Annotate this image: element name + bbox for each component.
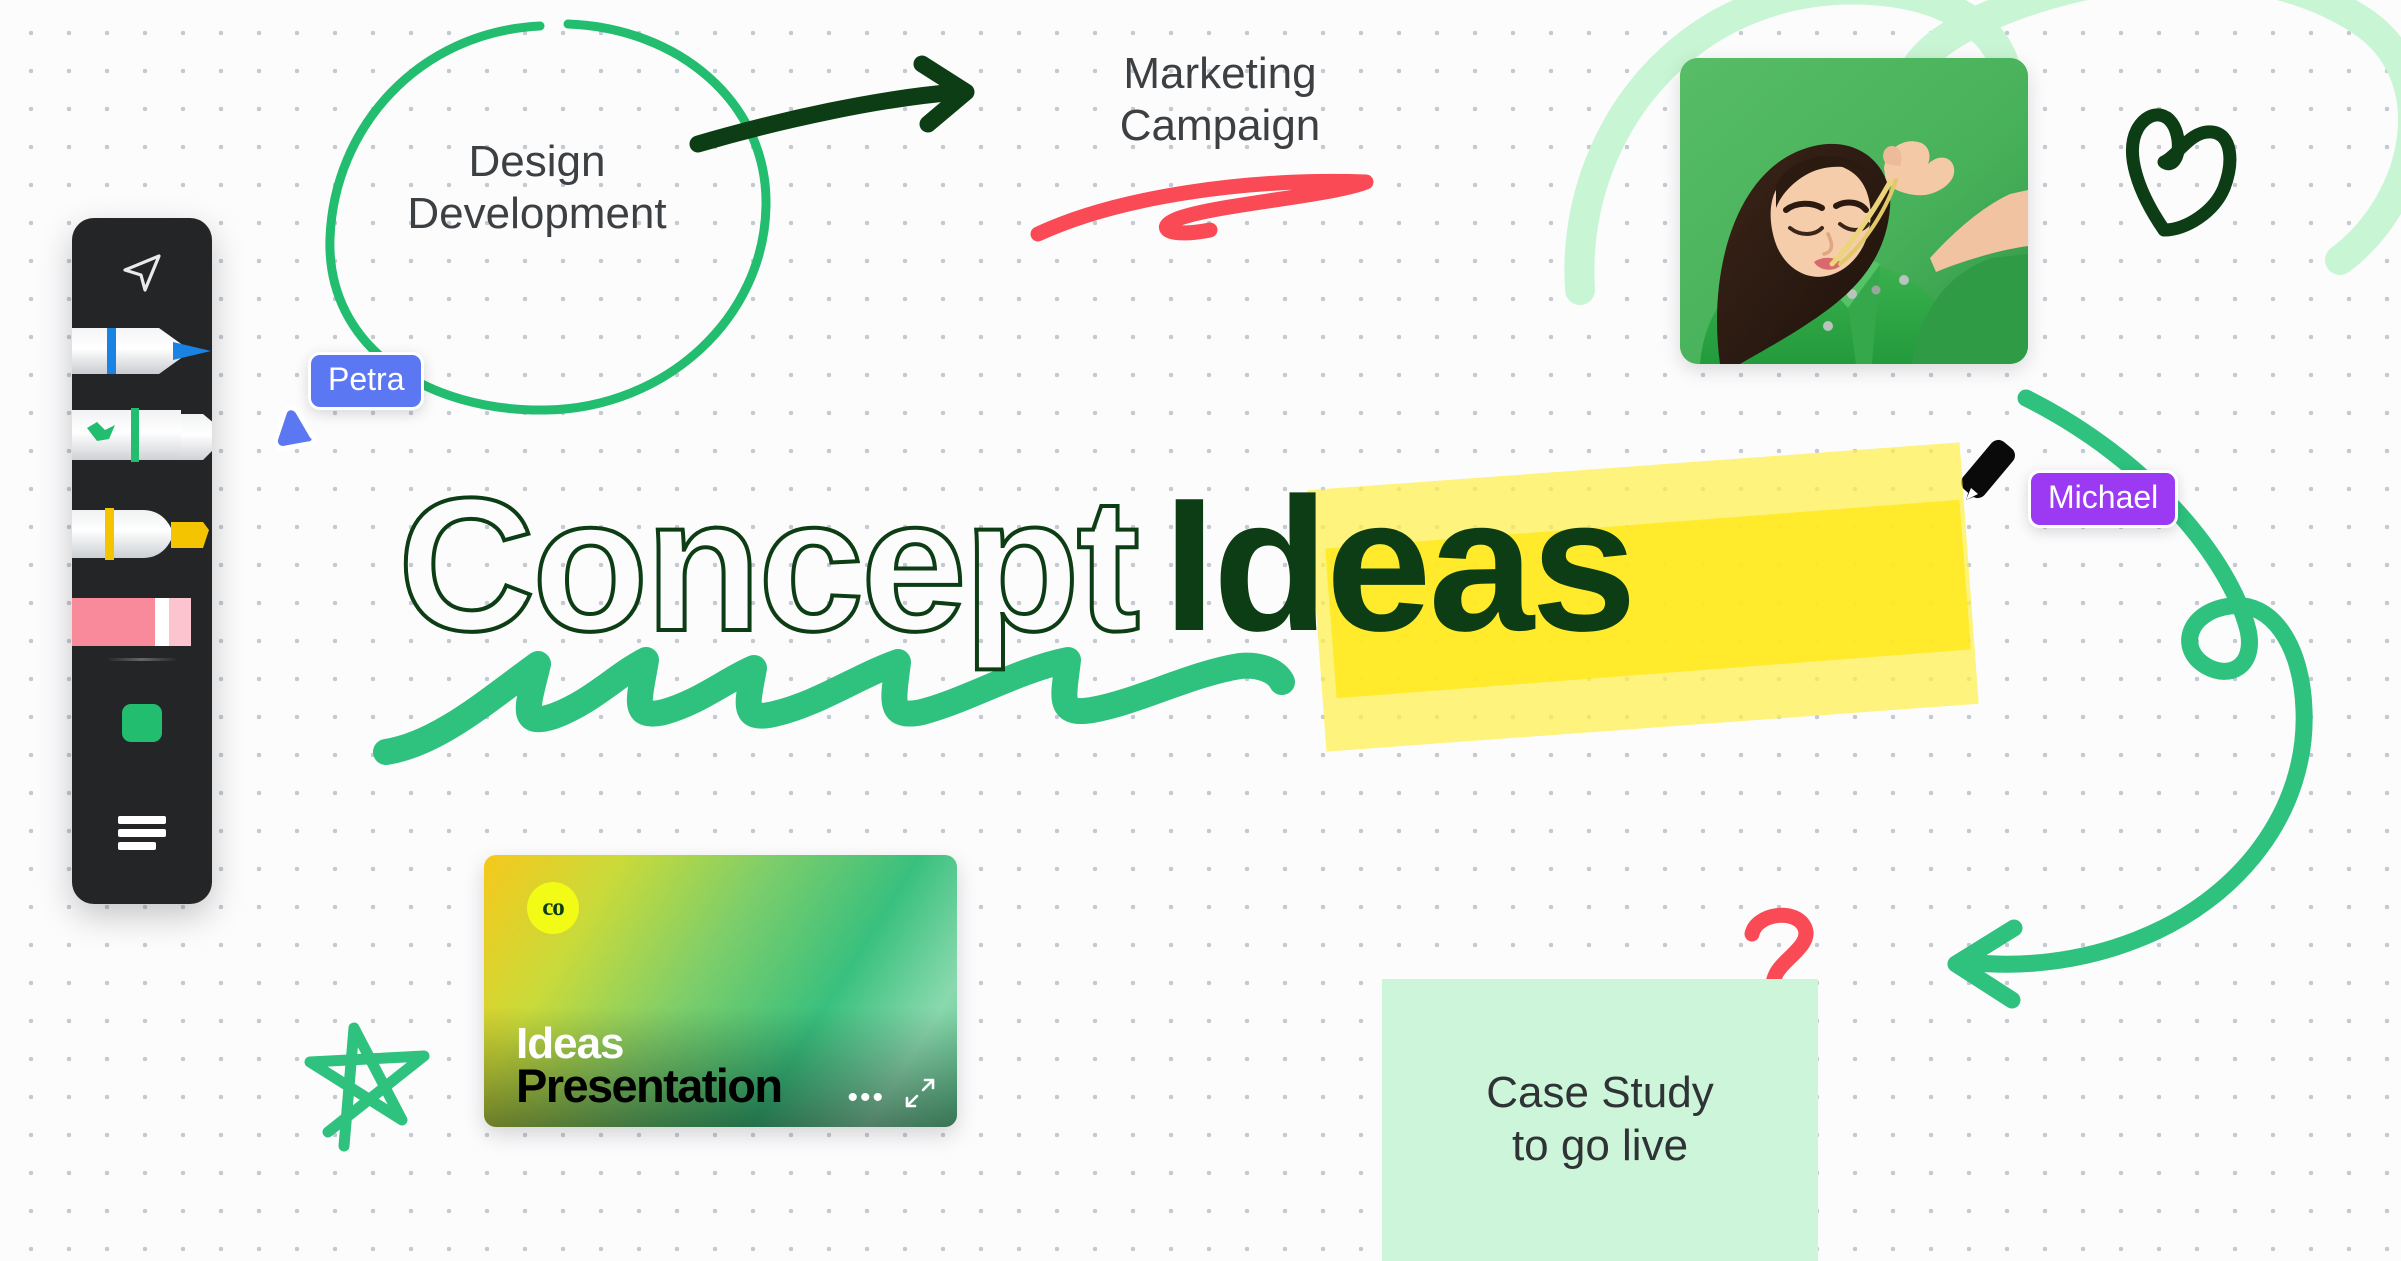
sticky-text-design-development[interactable]: Design Development <box>372 136 702 240</box>
tool-eraser-pink[interactable] <box>72 594 199 650</box>
drawing-toolbar[interactable] <box>72 218 212 904</box>
co-logo-badge: co <box>527 882 579 934</box>
red-underline-swoosh-doodle <box>1030 168 1400 248</box>
photo-illustration <box>1680 58 2028 364</box>
tool-marker-green[interactable] <box>72 406 212 468</box>
marker-icon <box>72 406 212 468</box>
tool-pointer-cursor[interactable] <box>72 218 212 328</box>
pen-icon <box>72 314 212 388</box>
highlighter-icon <box>72 504 212 564</box>
cursor-label-michael: Michael <box>2028 470 2178 528</box>
heart-doodle <box>2116 100 2236 240</box>
hamburger-menu-icon[interactable] <box>118 816 166 850</box>
photo-card-woman-eating-noodles[interactable] <box>1680 58 2028 364</box>
pencil-cursor-icon <box>1960 430 2036 506</box>
headline-word-concept: Concept <box>398 459 1137 671</box>
card-expand-icon[interactable] <box>905 1078 935 1113</box>
page-title[interactable]: ConceptIdeas <box>398 470 1634 660</box>
card-more-options-icon[interactable]: ••• <box>847 1083 885 1113</box>
color-swatch-button[interactable] <box>122 704 162 742</box>
tool-pen-blue[interactable] <box>72 314 212 388</box>
card-subtitle: Presentation <box>516 1063 782 1109</box>
sticky-text-marketing-campaign[interactable]: Marketing Campaign <box>1070 48 1370 152</box>
pointer-cursor-icon <box>119 250 165 296</box>
tool-highlighter-yellow[interactable] <box>72 504 212 564</box>
eraser-icon <box>72 594 199 650</box>
ideas-presentation-card[interactable]: co Ideas Presentation ••• <box>484 855 957 1127</box>
arrow-right-doodle <box>690 58 980 168</box>
sticky-note-case-study[interactable]: Case Study to go live <box>1382 979 1818 1261</box>
sticky-note-text: Case Study to go live <box>1486 1067 1713 1173</box>
headline-word-ideas: Ideas <box>1163 459 1634 671</box>
cursor-label-petra: Petra <box>308 352 424 410</box>
star-doodle <box>292 1000 442 1160</box>
toolbar-divider <box>108 658 176 661</box>
